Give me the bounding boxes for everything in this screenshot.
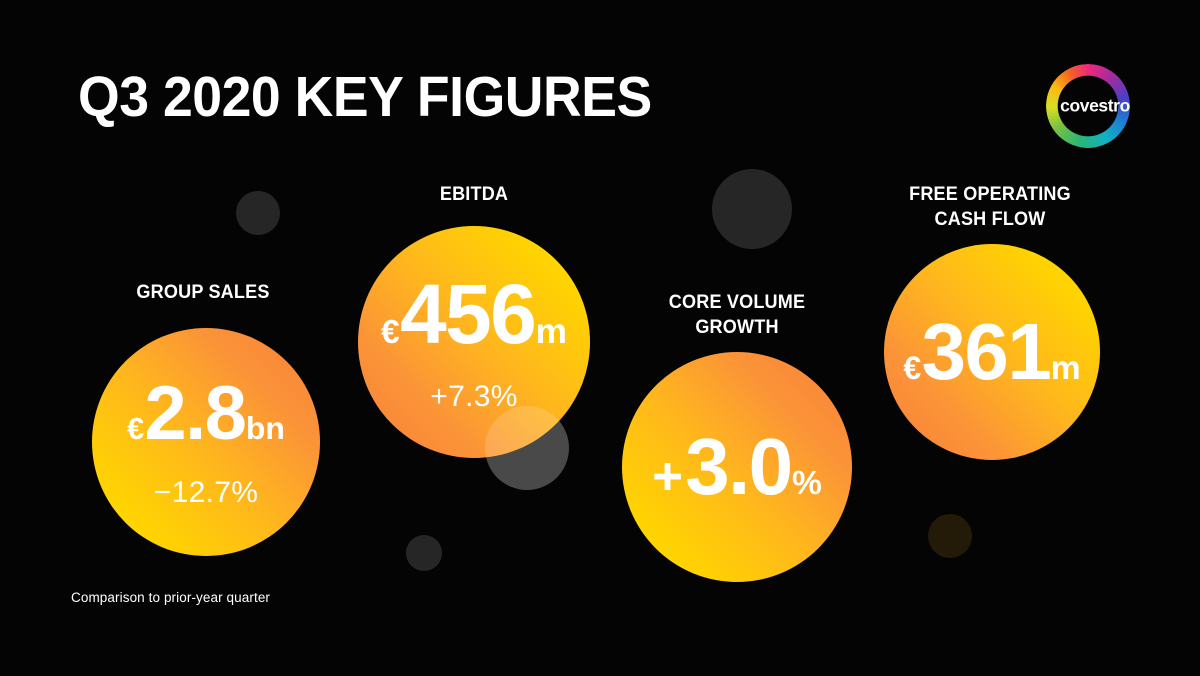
page-title: Q3 2020 KEY FIGURES — [78, 66, 652, 128]
value-number: 456 — [400, 272, 535, 356]
metric-label-line-1: FREE OPERATING — [909, 184, 1071, 205]
metric-label-group-sales: GROUP SALES — [136, 280, 269, 305]
value-unit: bn — [246, 413, 285, 445]
currency-symbol: € — [381, 316, 400, 350]
metric-bubble-group-sales: €2.8bn −12.7% — [92, 328, 320, 556]
logo-wordmark: covestro — [1052, 96, 1138, 117]
metric-delta-ebitda: +7.3% — [430, 382, 517, 412]
metric-value-ebitda: €456m — [381, 272, 567, 356]
metric-label-line-1: CORE VOLUME — [669, 292, 805, 313]
value-number: 361 — [922, 312, 1051, 392]
metric-label-ebitda: EBITDA — [440, 182, 508, 207]
decor-circle-1 — [236, 191, 280, 235]
metric-value-group-sales: €2.8bn — [127, 376, 285, 452]
value-number: 2.8 — [144, 376, 245, 452]
metric-ebitda: EBITDA €456m +7.3% — [358, 182, 590, 458]
metric-label-free-operating-cash-flow: FREE OPERATING CASH FLOW — [909, 182, 1071, 232]
metric-free-operating-cash-flow: FREE OPERATING CASH FLOW €361m — [882, 182, 1098, 458]
covestro-logo: covestro — [1046, 64, 1130, 148]
metric-label-core-volume-growth: CORE VOLUME GROWTH — [669, 290, 805, 340]
value-sign: + — [652, 451, 683, 504]
metric-bubble-core-volume-growth: +3.0% — [622, 352, 852, 582]
metric-bubble-free-operating-cash-flow: €361m — [884, 244, 1100, 460]
metric-core-volume-growth: CORE VOLUME GROWTH +3.0% — [622, 290, 852, 580]
footnote: Comparison to prior-year quarter — [71, 590, 270, 605]
value-unit: % — [792, 467, 822, 501]
slide-canvas: Q3 2020 KEY FIGURES covestro GROUP SALES… — [0, 0, 1200, 676]
metric-bubble-ebitda: €456m +7.3% — [358, 226, 590, 458]
metric-label-line-2: GROWTH — [695, 317, 778, 338]
value-unit: m — [536, 314, 567, 349]
decor-circle-4 — [406, 535, 442, 571]
metric-value-free-operating-cash-flow: €361m — [903, 312, 1080, 392]
metric-group-sales: GROUP SALES €2.8bn −12.7% — [88, 280, 318, 540]
decor-circle-2 — [712, 169, 792, 249]
metric-delta-group-sales: −12.7% — [154, 478, 258, 508]
value-unit: m — [1051, 352, 1081, 386]
metric-label-line-2: CASH FLOW — [934, 209, 1045, 230]
currency-symbol: € — [903, 352, 921, 384]
decor-circle-5 — [928, 514, 972, 558]
currency-symbol: € — [127, 414, 144, 444]
value-number: 3.0 — [685, 427, 791, 507]
metric-value-core-volume-growth: +3.0% — [652, 427, 822, 507]
